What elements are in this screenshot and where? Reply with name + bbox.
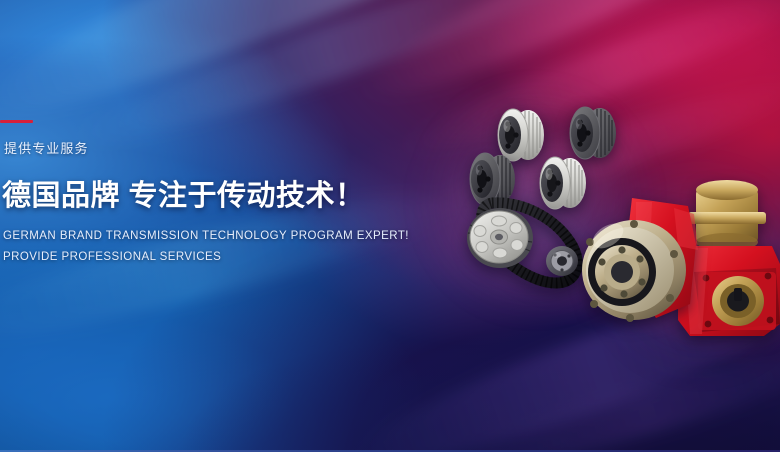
promo-banner: 提供专业服务 德国品牌 专注于传动技术！ GERMAN BRAND TRANSM… [0,0,780,452]
right-angle-gearbox-front [578,192,713,338]
product-imagery [0,0,780,452]
